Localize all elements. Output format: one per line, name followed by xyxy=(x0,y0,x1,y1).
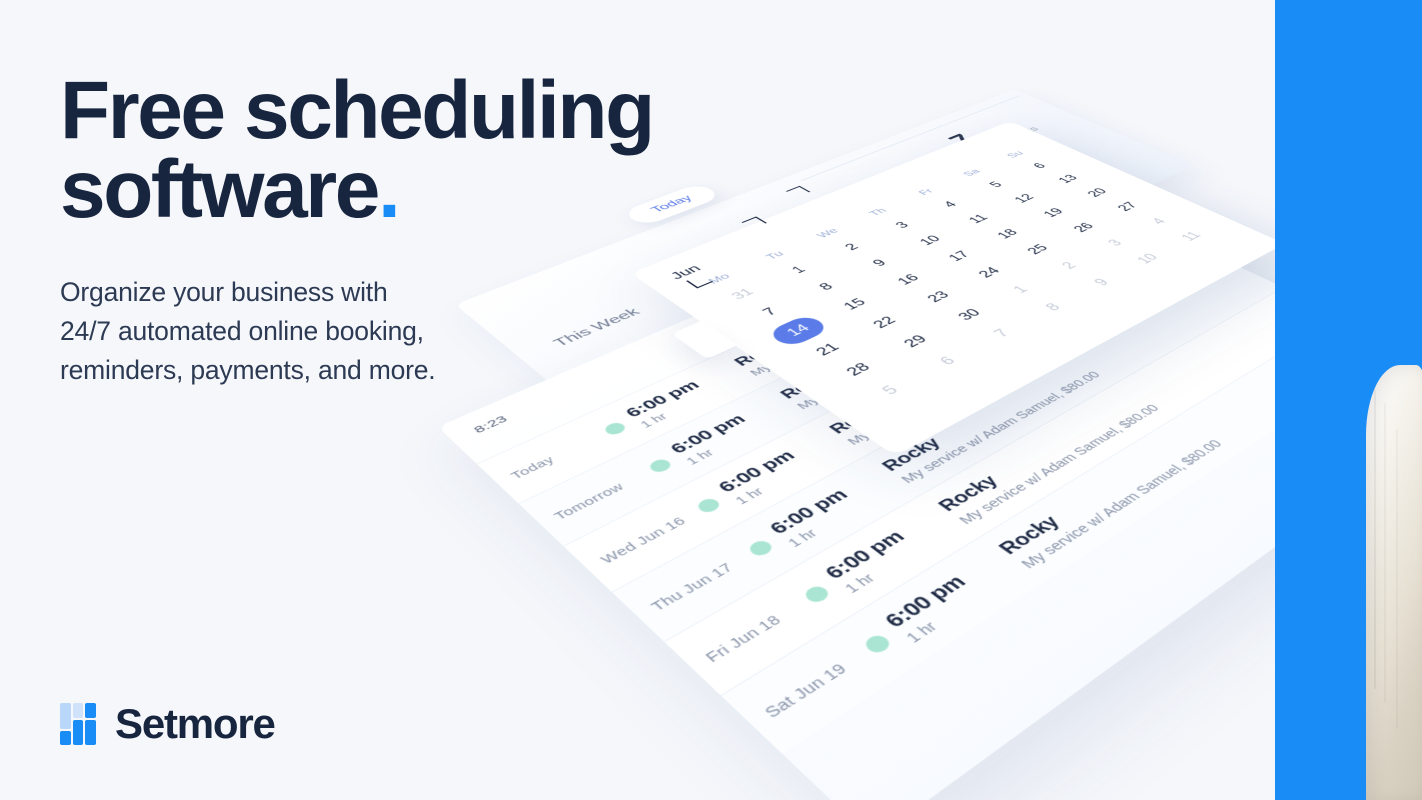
logo-block-2a xyxy=(73,703,84,718)
appointment-date: Sat Jun 19 xyxy=(744,644,876,731)
logo-block-3a xyxy=(85,703,96,718)
logo-block-2b xyxy=(73,720,84,746)
setmore-blocks-icon xyxy=(60,703,96,745)
headline-line-1: Free scheduling xyxy=(60,65,653,156)
appointment-date: Thu Jun 17 xyxy=(632,548,758,622)
appointment-date: Tomorrow xyxy=(536,466,657,530)
appointment-time: 6:00 pm xyxy=(715,426,843,496)
headline-line-2: software xyxy=(60,144,378,235)
appointment-duration: 1 hr xyxy=(784,477,910,550)
person-photo xyxy=(1366,365,1422,800)
appointment-time-block: 6:00 pm1 hr xyxy=(766,463,910,549)
appointment-duration: 1 hr xyxy=(841,517,969,595)
logo-block-1b xyxy=(60,731,71,746)
headline-accent-dot: . xyxy=(378,144,398,235)
logo-wordmark: Setmore xyxy=(115,700,275,748)
setmore-logo[interactable]: Setmore xyxy=(60,700,275,748)
hero-copy: Free schedulingsoftware. Organize your b… xyxy=(60,72,760,390)
appointment-time: 6:00 pm xyxy=(880,545,1015,632)
appointment-status-dot-icon xyxy=(861,632,893,655)
appointment-time-block: 6:00 pm1 hr xyxy=(715,426,856,506)
appointment-duration: 1 hr xyxy=(902,561,1032,646)
hero-subcopy: Organize your business with 24/7 automat… xyxy=(60,273,760,390)
page-title: Free schedulingsoftware. xyxy=(60,72,760,229)
appointment-time-block: 6:00 pm1 hr xyxy=(821,503,969,596)
appointment-status-dot-icon xyxy=(801,584,832,605)
hero-screenshot: This Week 7 Appointments 8:23 Today6:00 … xyxy=(0,0,1422,800)
appointment-date: Fri Jun 18 xyxy=(686,594,815,674)
clock-label: 8:23 xyxy=(471,414,511,436)
appointment-time: 6:00 pm xyxy=(667,392,793,458)
logo-block-3b xyxy=(85,720,96,746)
appointment-duration: 1 hr xyxy=(683,403,805,466)
selection-bracket-top-right-icon xyxy=(786,186,810,197)
appointment-time: 6:00 pm xyxy=(821,503,954,584)
appointment-date: Today xyxy=(493,428,612,487)
appointment-status-dot-icon xyxy=(646,457,674,474)
appointment-time-block: 6:00 pm1 hr xyxy=(880,545,1031,645)
appointment-time: 6:00 pm xyxy=(766,463,896,538)
appointment-duration: 1 hr xyxy=(732,439,856,507)
appointment-status-dot-icon xyxy=(694,496,723,514)
appointment-status-dot-icon xyxy=(746,538,776,558)
logo-block-1a xyxy=(60,703,71,729)
appointment-date: Wed Jun 16 xyxy=(582,505,706,574)
